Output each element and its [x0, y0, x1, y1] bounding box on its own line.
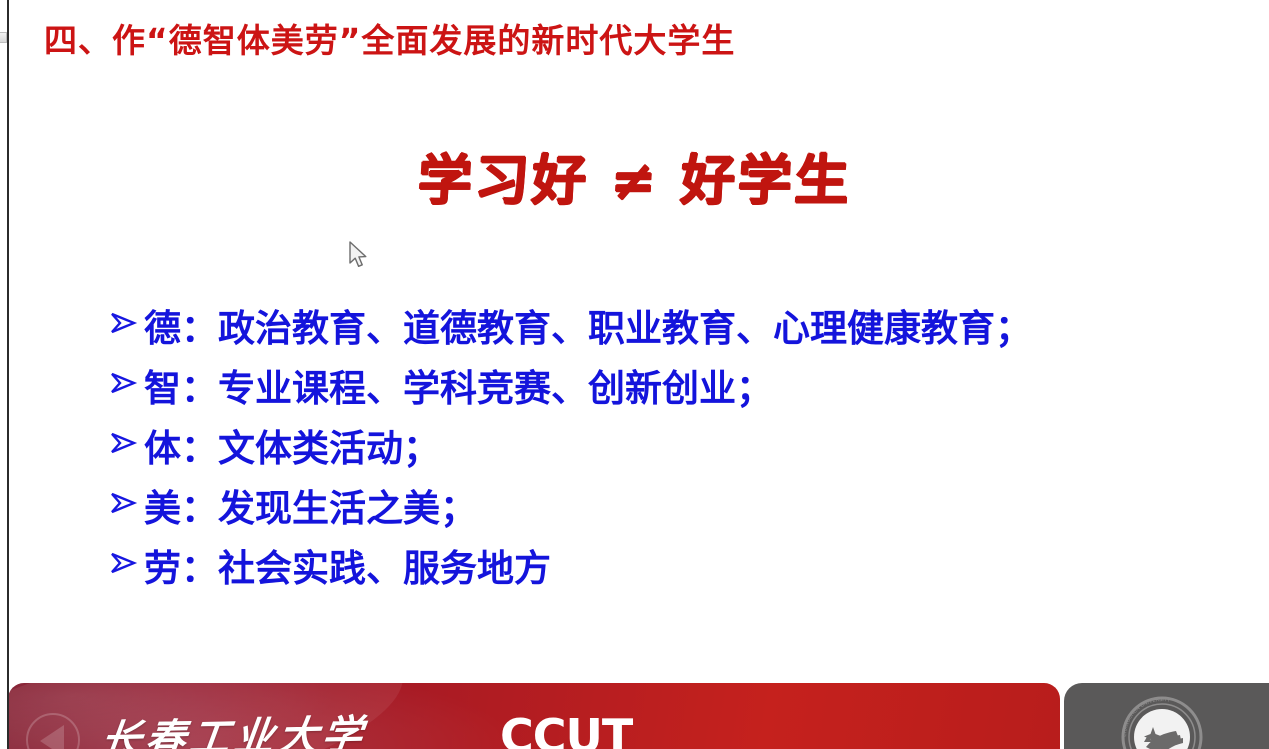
list-item-label: 美：发现生活之美； — [144, 490, 477, 527]
list-item-label: 劳：社会实践、服务地方 — [144, 550, 551, 587]
mouse-cursor-icon — [348, 241, 370, 271]
list-item: 劳：社会实践、服务地方 — [108, 550, 1238, 610]
headline-text: 学习好 ≠ 好学生 — [416, 148, 853, 213]
arrow-bullet-icon — [108, 428, 144, 458]
list-item-label: 体：文体类活动； — [144, 430, 440, 467]
list-item: 体：文体类活动； — [108, 430, 1238, 490]
arrow-bullet-icon — [108, 548, 144, 578]
list-item: 智：专业课程、学科竞赛、创新创业； — [108, 370, 1238, 430]
footer-brand-english: CCUT — [500, 709, 632, 749]
footer-brand-chinese: 长春工业大学 — [98, 702, 370, 749]
university-seal-icon: CHANGCHUN UNIVERSITY — [1120, 695, 1204, 749]
slide-footer: 长春工业大学 CCUT CHANGCHUN UNIVERSITY — [0, 683, 1269, 749]
slide-title: 四、作“德智体美劳”全面发展的新时代大学生 — [44, 20, 735, 61]
arrow-bullet-icon — [108, 488, 144, 518]
arrow-bullet-icon — [108, 308, 144, 338]
footer-red-banner: 长春工业大学 CCUT — [8, 683, 1060, 749]
list-item-label: 智：专业课程、学科竞赛、创新创业； — [144, 370, 773, 407]
window-edge-handle[interactable] — [0, 32, 7, 43]
headline-container: 学习好 ≠ 好学生 — [0, 148, 1269, 213]
list-item-label: 德：政治教育、道德教育、职业教育、心理健康教育； — [144, 310, 1032, 347]
footer-gray-panel: CHANGCHUN UNIVERSITY — [1064, 683, 1269, 749]
arrow-bullet-icon — [108, 368, 144, 398]
list-item: 美：发现生活之美； — [108, 490, 1238, 550]
list-item: 德：政治教育、道德教育、职业教育、心理健康教育； — [108, 310, 1238, 370]
window-edge-strip — [7, 0, 9, 749]
presentation-slide: 四、作“德智体美劳”全面发展的新时代大学生 学习好 ≠ 好学生 德：政治教育、道… — [0, 0, 1269, 749]
bullet-list: 德：政治教育、道德教育、职业教育、心理健康教育； 智：专业课程、学科竞赛、创新创… — [108, 310, 1238, 610]
